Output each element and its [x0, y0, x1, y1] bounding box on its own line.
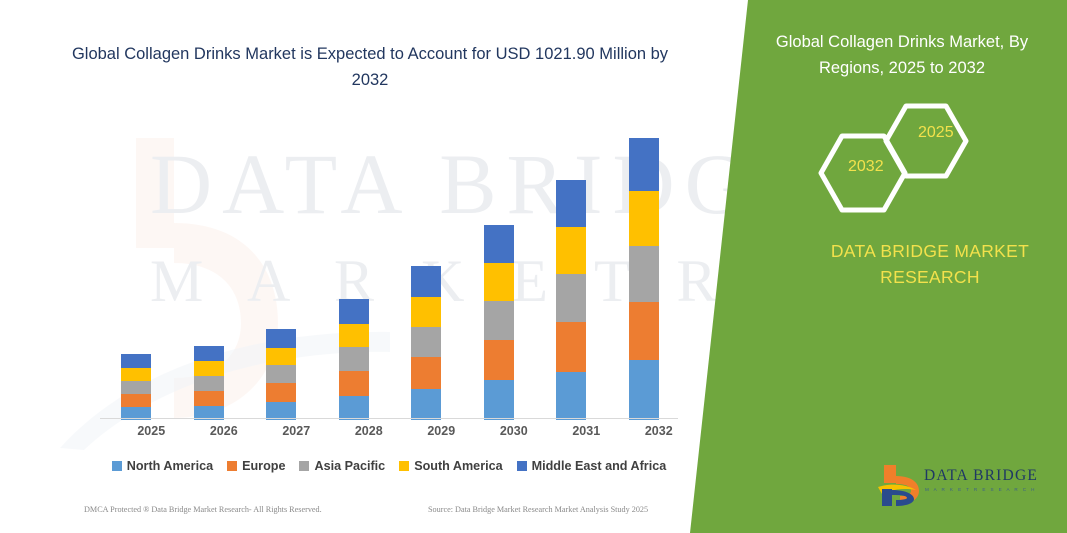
chart-panel: DATA BRIDGE M A R K E T R E S E A R C H … [0, 0, 740, 533]
bar-segment [484, 263, 514, 301]
chart-title: Global Collagen Drinks Market is Expecte… [60, 42, 680, 93]
bar-column [266, 329, 296, 420]
x-axis-label: 2027 [266, 424, 326, 438]
footer: DMCA Protected ® Data Bridge Market Rese… [0, 505, 740, 525]
bar-column [484, 225, 514, 420]
bar-column [411, 266, 441, 420]
logo-tagline-text: M A R K E T R E S E A R C H [925, 487, 1036, 492]
legend-swatch [517, 461, 527, 471]
legend-item[interactable]: Middle East and Africa [517, 459, 667, 473]
bar-segment [266, 365, 296, 383]
bar-segment [556, 322, 586, 372]
legend-item[interactable]: Europe [227, 459, 285, 473]
bar-segment [194, 361, 224, 376]
bar-segment [629, 191, 659, 246]
bar-segment [194, 376, 224, 391]
bar-segment [339, 371, 369, 396]
bar-segment [266, 348, 296, 365]
brand-name-text: DATA BRIDGE MARKET RESEARCH [790, 238, 1067, 291]
x-axis-label: 2032 [629, 424, 689, 438]
bar-segment [629, 138, 659, 191]
legend-label: North America [127, 459, 213, 473]
bar-segment [411, 389, 441, 420]
x-axis-label: 2031 [556, 424, 616, 438]
legend-item[interactable]: North America [112, 459, 213, 473]
legend-label: Middle East and Africa [532, 459, 667, 473]
x-axis-label: 2030 [484, 424, 544, 438]
footer-dmca-text: DMCA Protected ® Data Bridge Market Rese… [84, 505, 322, 514]
bar-segment [339, 396, 369, 420]
x-axis-line [100, 418, 678, 419]
bar-segment [411, 297, 441, 327]
legend-swatch [399, 461, 409, 471]
bar-segment [339, 299, 369, 324]
legend-swatch [112, 461, 122, 471]
bar-segment [556, 227, 586, 274]
bar-segment [194, 346, 224, 361]
bar-segment [121, 381, 151, 394]
hexagon-2025-label: 2025 [918, 124, 954, 142]
legend-item[interactable]: Asia Pacific [299, 459, 385, 473]
hexagon-2032-label: 2032 [848, 158, 884, 176]
x-axis-label: 2026 [194, 424, 254, 438]
bar-segment [556, 180, 586, 227]
bar-segment [339, 324, 369, 347]
legend-label: Europe [242, 459, 285, 473]
x-axis-label: 2029 [411, 424, 471, 438]
bar-segment [484, 380, 514, 420]
bar-segment [121, 368, 151, 381]
x-axis-label: 2025 [121, 424, 181, 438]
bar-column [339, 299, 369, 420]
bar-segment [556, 274, 586, 322]
bar-segment [339, 347, 369, 371]
bar-segment [629, 360, 659, 420]
bar-segment [556, 372, 586, 420]
x-axis-labels: 20252026202720282029203020312032 [100, 424, 680, 448]
bar-segment [121, 394, 151, 407]
panel-title: Global Collagen Drinks Market, By Region… [752, 30, 1052, 81]
hexagon-group: 2032 2025 [800, 100, 1030, 215]
bar-column [556, 180, 586, 420]
x-axis-label: 2028 [339, 424, 399, 438]
bar-segment [411, 327, 441, 357]
data-bridge-logo-icon [876, 463, 922, 507]
bar-segment [411, 266, 441, 297]
bar-segment [629, 246, 659, 302]
legend-label: Asia Pacific [314, 459, 385, 473]
bar-column [194, 346, 224, 420]
bar-segment [411, 357, 441, 389]
bar-segment [266, 329, 296, 348]
bar-segment [629, 302, 659, 360]
legend-item[interactable]: South America [399, 459, 502, 473]
bar-segment [484, 225, 514, 263]
bar-segment [121, 354, 151, 368]
bar-segment [484, 301, 514, 340]
footer-source-text: Source: Data Bridge Market Research Mark… [428, 505, 648, 514]
legend-label: South America [414, 459, 502, 473]
brand-logo: DATA BRIDGE M A R K E T R E S E A R C H [876, 463, 1061, 509]
bar-segment [266, 383, 296, 402]
legend-swatch [299, 461, 309, 471]
bar-column [121, 354, 151, 420]
chart-legend: North AmericaEuropeAsia PacificSouth Ame… [100, 455, 678, 477]
bar-segment [484, 340, 514, 380]
chart-plot-area [100, 120, 680, 420]
legend-swatch [227, 461, 237, 471]
bar-segment [194, 391, 224, 406]
bar-column [629, 138, 659, 420]
logo-name-text: DATA BRIDGE [924, 467, 1038, 485]
hexagon-icons [800, 100, 1030, 215]
